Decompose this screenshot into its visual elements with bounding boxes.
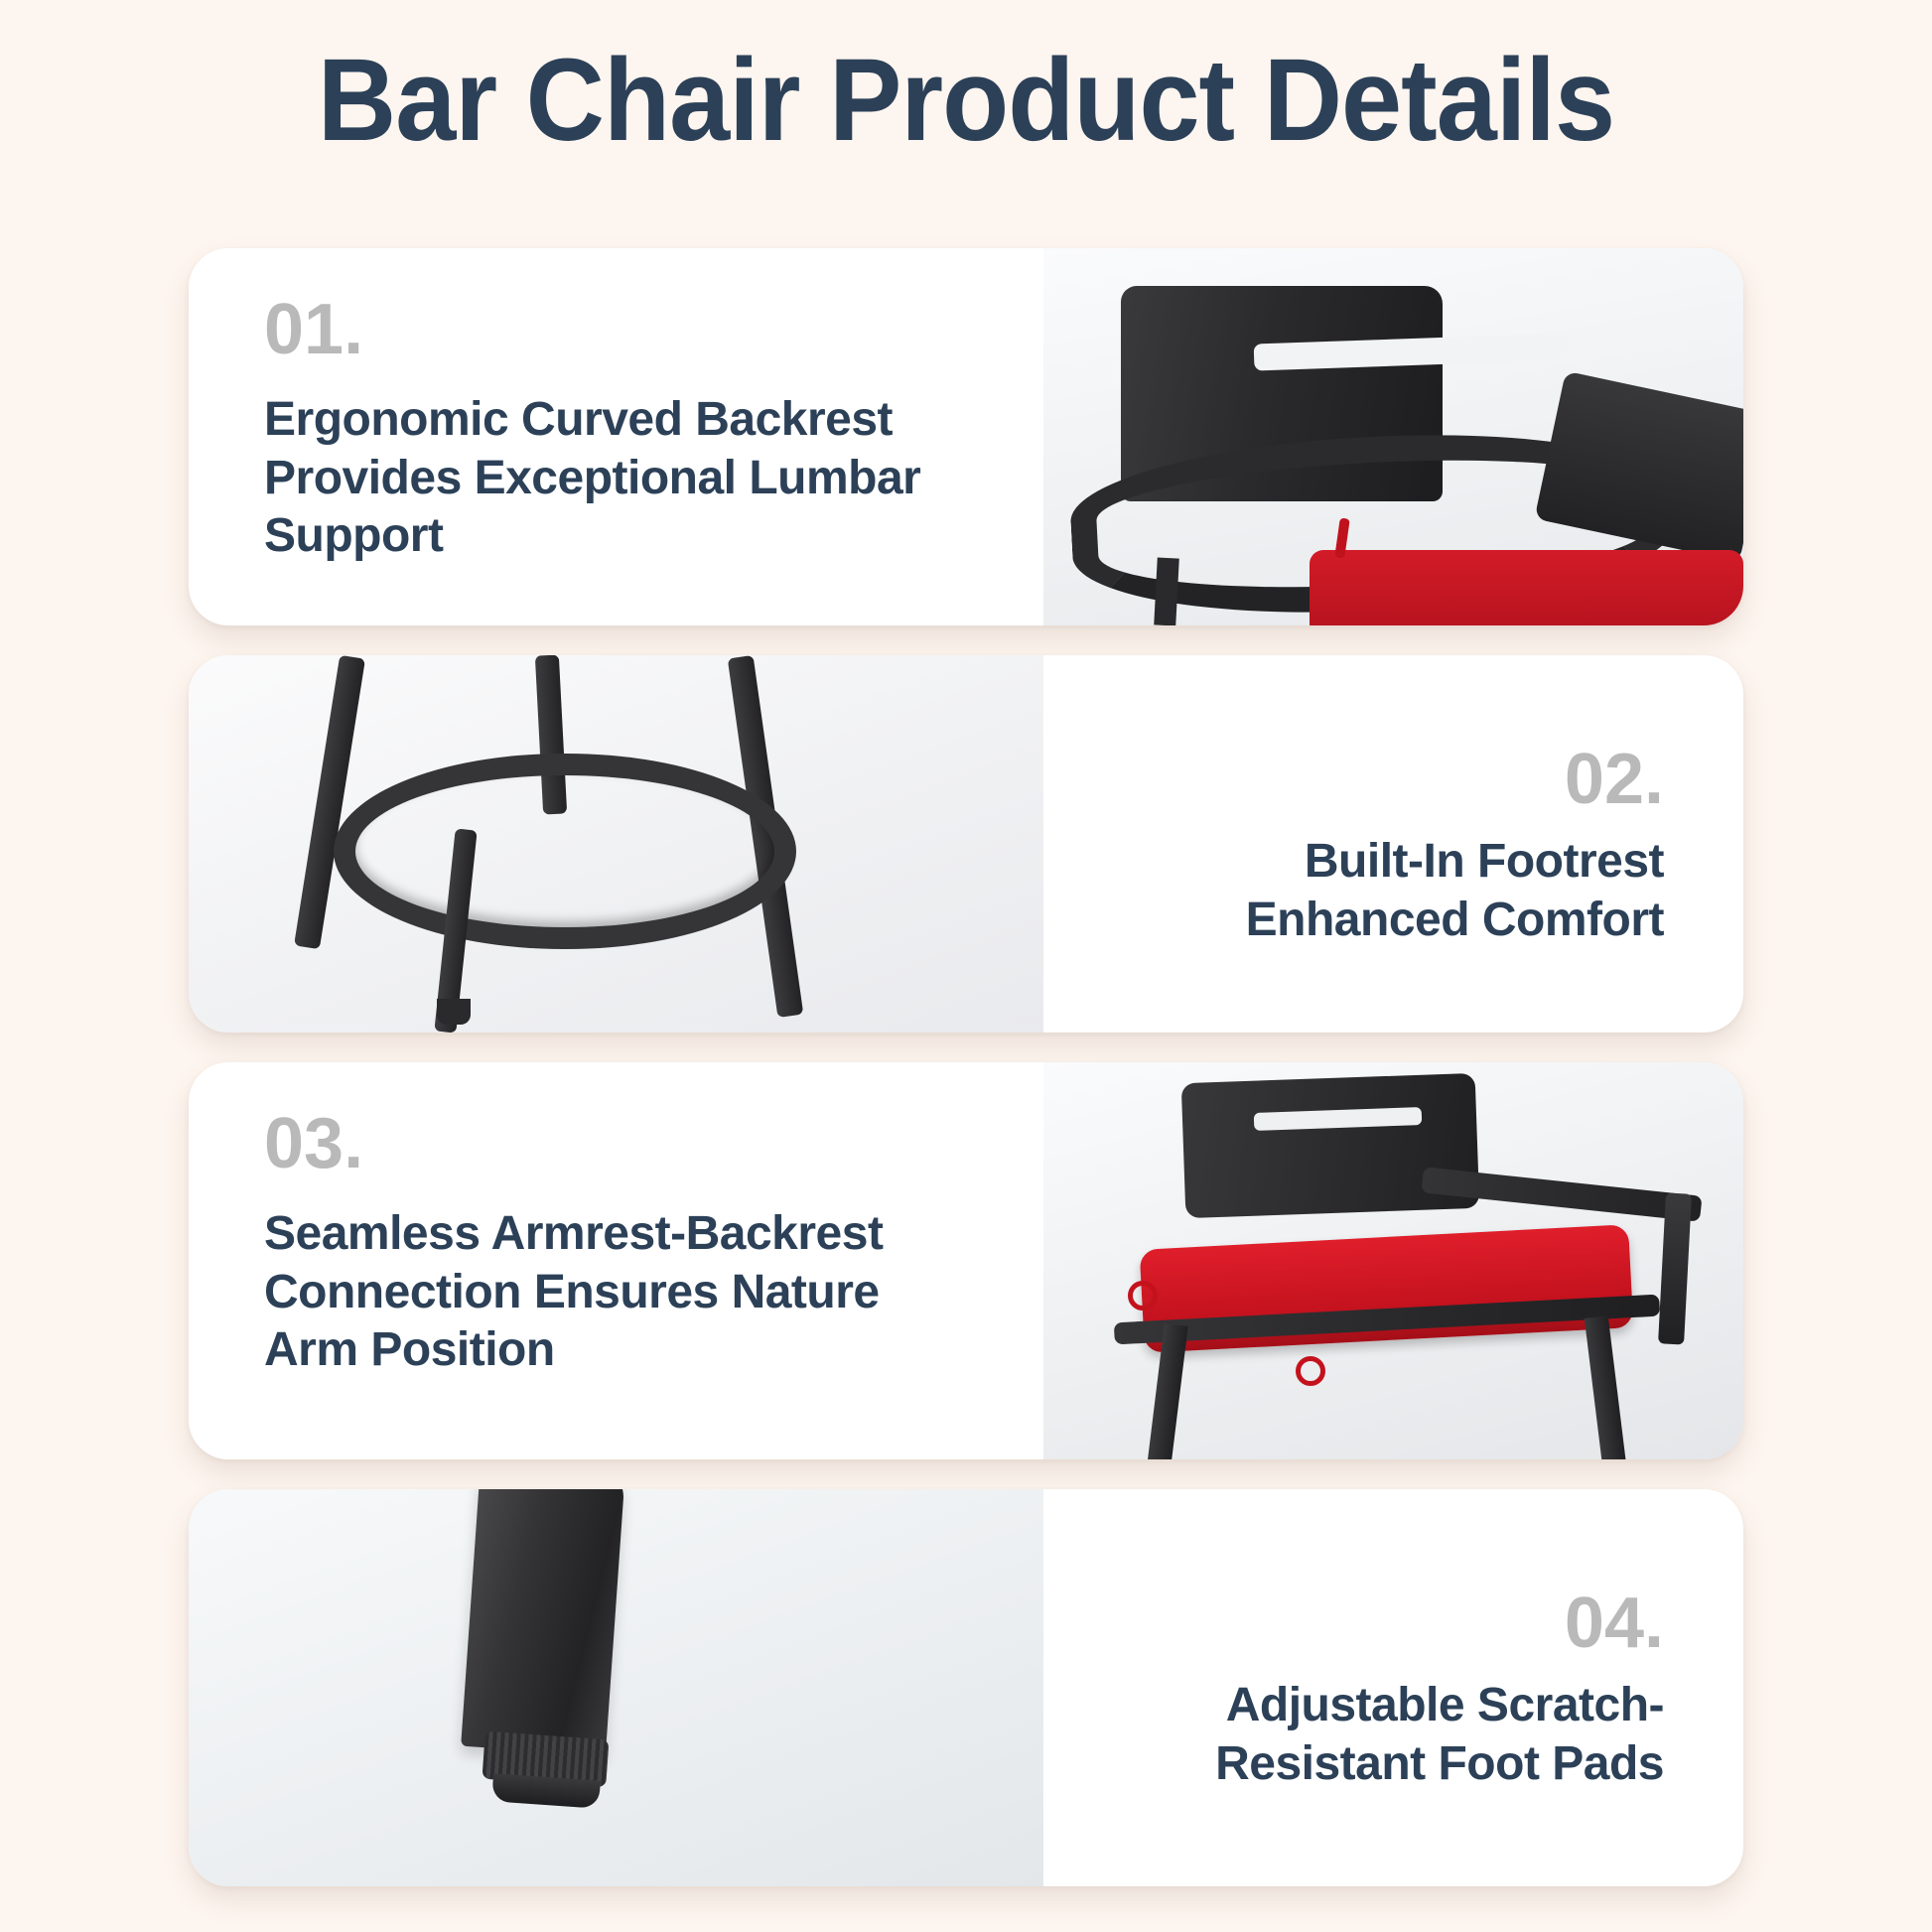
feature-label-04: Adjustable Scratch-Resistant Foot Pads (1093, 1677, 1664, 1793)
feature-image-03 (1043, 1062, 1743, 1459)
footrest-ring-closeup-image (189, 655, 1043, 1033)
feature-number-04: 04. (1093, 1587, 1664, 1659)
feature-number-02: 02. (1093, 744, 1664, 815)
feature-label-02: Built-In Footrest Enhanced Comfort (1093, 833, 1664, 949)
feature-card-03: 03. Seamless Armrest-Backrest Connection… (189, 1062, 1743, 1459)
adjustable-foot-pad-closeup-image (189, 1489, 1043, 1886)
feature-card-02-text: 02. Built-In Footrest Enhanced Comfort (1043, 655, 1743, 1033)
chair-leg-shape (1154, 557, 1179, 625)
footrest-foot-tip-shape (437, 999, 471, 1025)
feature-image-02 (189, 655, 1043, 1033)
feature-image-04 (189, 1489, 1043, 1886)
feature-number-01: 01. (264, 294, 974, 365)
page-title: Bar Chair Product Details (68, 40, 1864, 163)
chair-backrest-shape (1181, 1073, 1480, 1218)
feature-card-02: 02. Built-In Footrest Enhanced Comfort (189, 655, 1743, 1033)
right-armrest-bar-shape (1421, 1167, 1702, 1221)
feature-card-01: 01. Ergonomic Curved Backrest Provides E… (189, 248, 1743, 625)
footrest-ring-shape (334, 754, 795, 950)
footrest-leg-left-shape (294, 655, 365, 950)
cushion-tie-front-shape (1296, 1356, 1325, 1386)
red-cushion-shape (1310, 550, 1743, 625)
feature-card-03-text: 03. Seamless Armrest-Backrest Connection… (189, 1062, 1043, 1459)
feature-card-04: 04. Adjustable Scratch-Resistant Foot Pa… (189, 1489, 1743, 1886)
armrest-backrest-closeup-image (1043, 1062, 1743, 1459)
chair-leg-tube-shape (461, 1489, 625, 1756)
product-details-infographic: Bar Chair Product Details 01. Ergonomic … (0, 0, 1932, 1932)
feature-label-03: Seamless Armrest-Backrest Connection Ens… (264, 1205, 974, 1380)
feature-card-04-text: 04. Adjustable Scratch-Resistant Foot Pa… (1043, 1489, 1743, 1886)
cushion-tie-left-shape (1128, 1281, 1158, 1311)
feature-image-01 (1043, 248, 1743, 625)
chair-backrest-closeup-image (1043, 248, 1743, 625)
chair-leg-right-shape (1585, 1315, 1626, 1459)
feature-label-01: Ergonomic Curved Backrest Provides Excep… (264, 391, 974, 566)
feature-number-03: 03. (264, 1108, 974, 1179)
feature-card-01-text: 01. Ergonomic Curved Backrest Provides E… (189, 248, 1043, 625)
